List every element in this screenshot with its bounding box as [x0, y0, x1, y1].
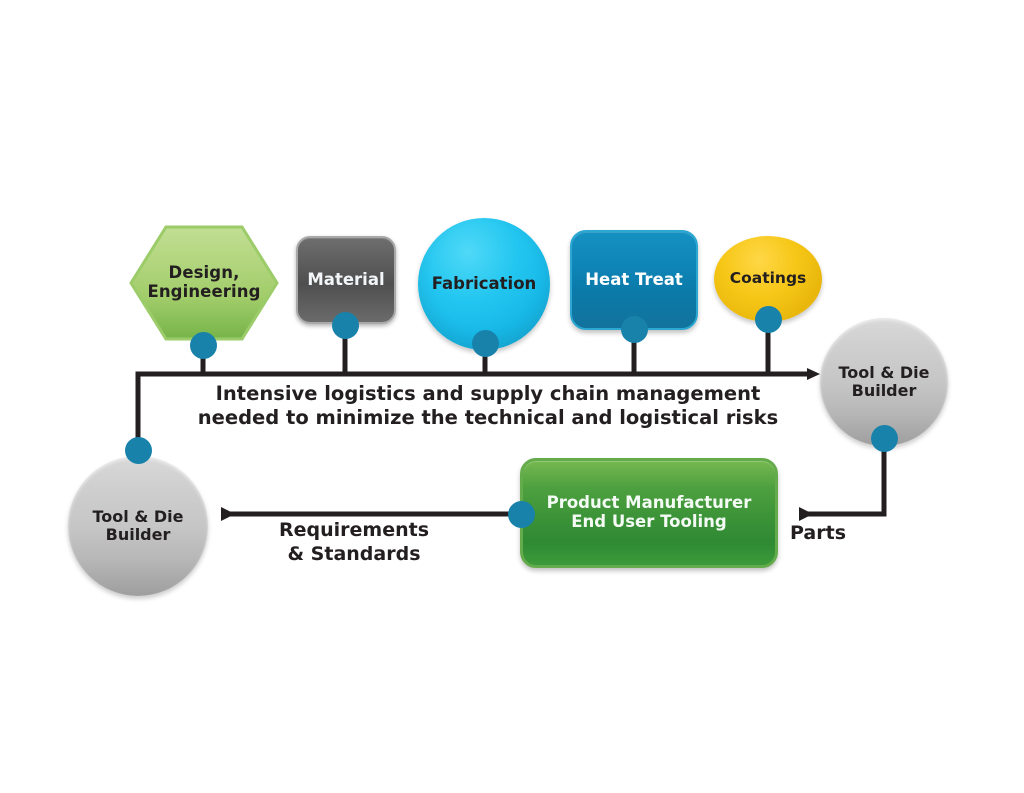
annotation-requirements-standards: Requirements & Standards — [248, 519, 460, 566]
annotation-parts: Parts — [790, 522, 914, 546]
node-design-engineering[interactable]: Design, Engineering — [128, 224, 280, 342]
connector-dot-heat-treat — [621, 316, 648, 343]
connector-dot-coatings — [755, 306, 782, 333]
node-tool-and-die-builder-right-label: Tool & Die Builder — [839, 364, 930, 400]
arrow-parts — [800, 446, 884, 514]
node-design-label: Design, Engineering — [147, 264, 260, 302]
node-tool-and-die-builder-left[interactable]: Tool & Die Builder — [68, 456, 208, 596]
connector-dot-material — [332, 312, 359, 339]
connector-dot-tool-die-left — [125, 437, 152, 464]
connector-dot-tool-die-right — [871, 425, 898, 452]
node-heat-treat-label: Heat Treat — [585, 271, 683, 290]
connector-dot-design — [190, 332, 217, 359]
annotation-logistics-note: Intensive logistics and supply chain man… — [178, 382, 798, 430]
connector-dot-fabrication — [472, 330, 499, 357]
node-coatings-label: Coatings — [730, 270, 807, 288]
node-product-manufacturer[interactable]: Product Manufacturer End User Tooling — [520, 458, 778, 568]
connector-dot-product-manufacturer — [508, 501, 535, 528]
node-product-manufacturer-label: Product Manufacturer End User Tooling — [547, 494, 752, 532]
node-tool-and-die-builder-left-label: Tool & Die Builder — [93, 508, 184, 544]
node-heat-treat[interactable]: Heat Treat — [570, 230, 698, 330]
diagram-canvas: Design, Engineering Material Fabrication… — [0, 0, 1024, 793]
node-material[interactable]: Material — [296, 236, 396, 324]
node-fabrication-label: Fabrication — [432, 275, 537, 294]
node-material-label: Material — [307, 271, 384, 290]
